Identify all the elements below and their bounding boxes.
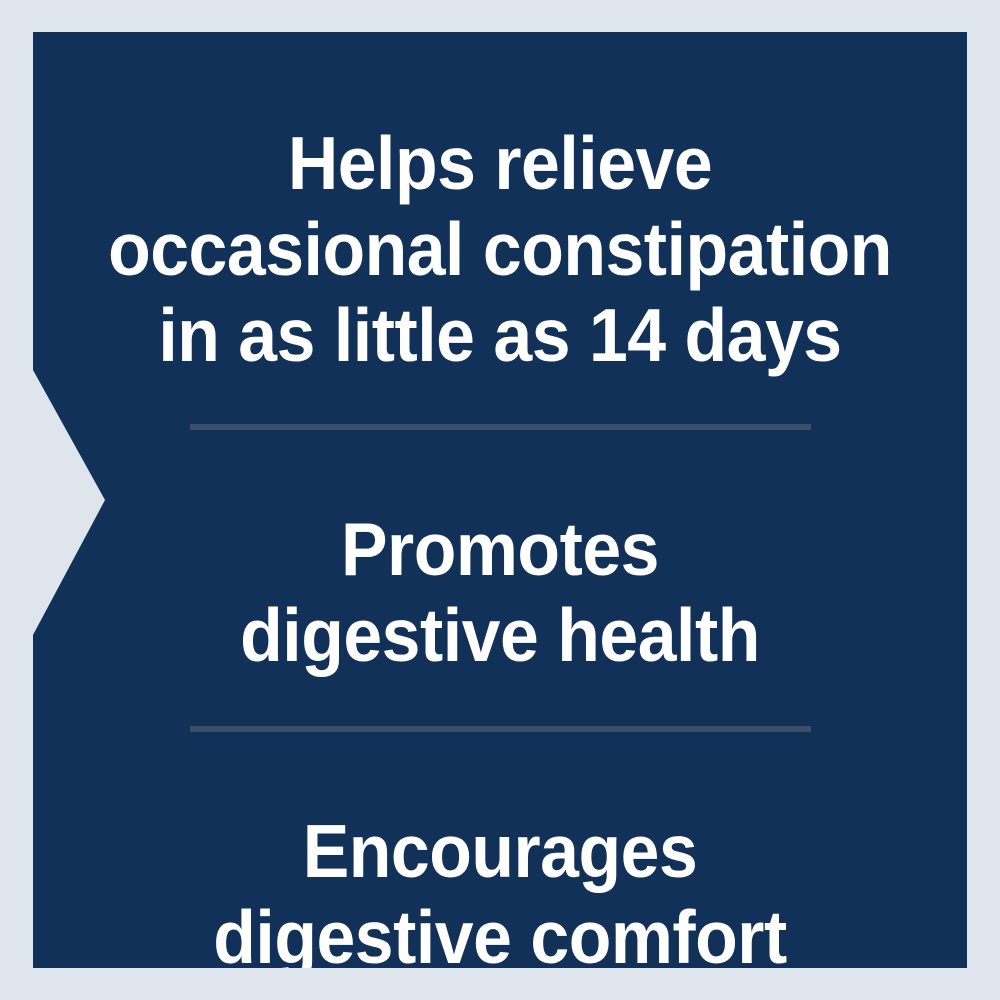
benefit-list: Helps relieve occasional constipation in…	[33, 32, 967, 968]
benefit-2-line-1: Promotes	[79, 506, 922, 592]
page-canvas: Helps relieve occasional constipation in…	[0, 0, 1000, 1000]
divider-2	[190, 726, 811, 732]
benefit-item-3: Encourages digestive comfort	[33, 808, 967, 980]
benefit-panel: Helps relieve occasional constipation in…	[33, 32, 967, 968]
benefit-3-line-2: digestive comfort	[79, 894, 922, 980]
divider-1	[190, 424, 811, 430]
benefit-1-line-2: occasional constipation	[79, 206, 922, 292]
benefit-1-line-1: Helps relieve	[79, 120, 922, 206]
benefit-2-line-2: digestive health	[79, 592, 922, 678]
benefit-1-line-3: in as little as 14 days	[79, 292, 922, 378]
benefit-3-line-1: Encourages	[79, 808, 922, 894]
benefit-item-1: Helps relieve occasional constipation in…	[33, 120, 967, 378]
benefit-item-2: Promotes digestive health	[33, 506, 967, 678]
